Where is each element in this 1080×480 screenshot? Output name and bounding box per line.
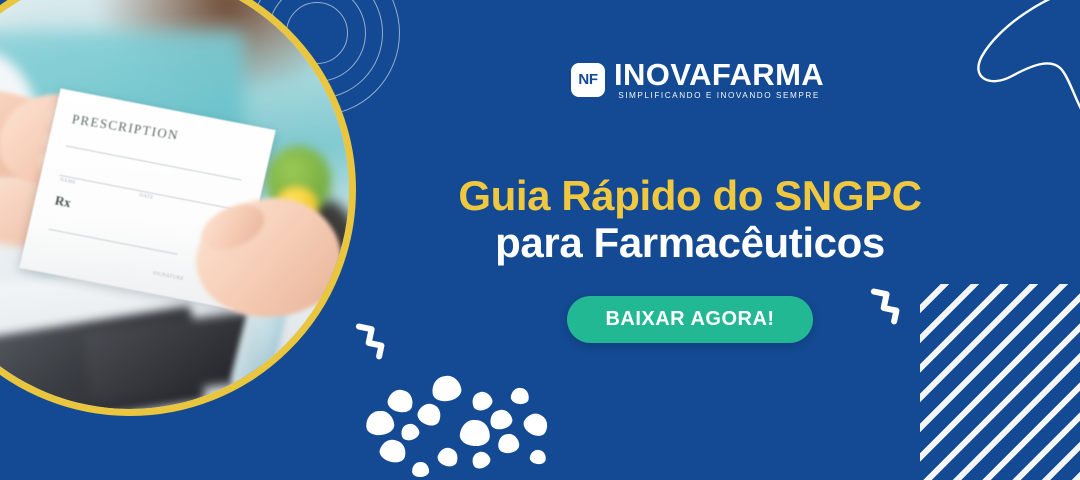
petal <box>488 408 514 432</box>
brand-name: INOVAFARMA <box>614 60 824 90</box>
petal <box>459 419 491 447</box>
petal <box>411 461 429 477</box>
headline: Guia Rápido do SNGPC para Farmacêuticos <box>420 174 960 266</box>
monogram-initials: NF <box>578 72 597 87</box>
prescription-rule <box>48 228 177 254</box>
zigzag-decoration-left <box>351 322 397 362</box>
inovafarma-monogram-icon: NF <box>571 63 605 97</box>
petal <box>365 410 395 437</box>
cta-container: BAIXAR AGORA! <box>420 296 960 343</box>
hero-photo: PRESCRIPTION NAME DATE Rx SIGNATURE <box>0 0 356 416</box>
petal <box>430 374 463 404</box>
petal <box>469 449 492 471</box>
headline-line-1: Guia Rápido do SNGPC <box>420 174 960 219</box>
prescription-rule <box>59 174 236 209</box>
petal <box>497 433 520 455</box>
petal <box>377 437 408 465</box>
petal-cluster-decoration <box>368 358 558 478</box>
petal <box>510 387 530 405</box>
prescription-label-name: NAME <box>59 178 76 186</box>
prescription-label-signature: SIGNATURE <box>152 271 184 282</box>
brand-logo-text: INOVAFARMA SIMPLIFICANDO E INOVANDO SEMP… <box>614 60 824 100</box>
download-now-button[interactable]: BAIXAR AGORA! <box>567 296 812 343</box>
prescription-label-date: DATE <box>139 193 154 201</box>
ribbon-curve-decoration <box>946 0 1080 130</box>
petal <box>469 389 494 413</box>
prescription-rule <box>65 145 242 180</box>
petal <box>399 422 421 443</box>
brand-logo[interactable]: NF INOVAFARMA SIMPLIFICANDO E INOVANDO S… <box>571 60 824 100</box>
petal <box>520 409 551 439</box>
headline-line-2: para Farmacêuticos <box>420 219 960 266</box>
prescription-title: PRESCRIPTION <box>70 111 180 144</box>
petal <box>436 445 461 469</box>
petal <box>529 449 547 466</box>
hero-photo-image: PRESCRIPTION NAME DATE Rx SIGNATURE <box>0 0 349 409</box>
brand-tagline: SIMPLIFICANDO E INOVANDO SEMPRE <box>614 92 824 100</box>
prescription-rx-symbol: Rx <box>53 192 72 211</box>
petal <box>415 400 445 429</box>
promo-banner: PRESCRIPTION NAME DATE Rx SIGNATURE NF I… <box>0 0 1080 480</box>
petal <box>386 387 416 414</box>
